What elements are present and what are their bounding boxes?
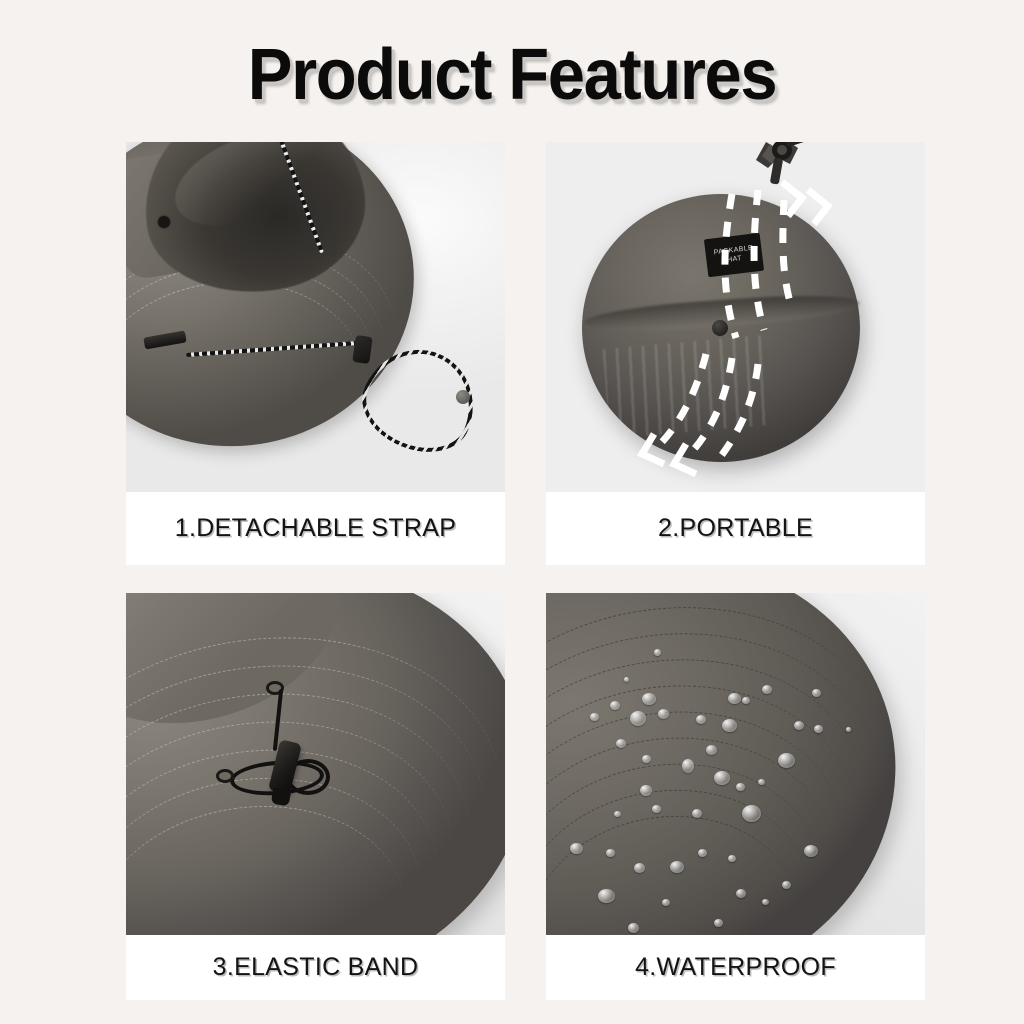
water-droplet [624,677,629,682]
water-droplet [682,759,694,773]
feature-caption-1: 1.DETACHABLE STRAP [126,492,505,565]
water-droplet [634,863,645,873]
water-droplet [742,805,761,822]
water-droplet [628,923,639,933]
water-droplet [714,919,723,927]
water-droplet [570,843,583,854]
feature-image-elastic-band [126,593,505,935]
water-droplet [722,719,737,732]
water-droplet [728,693,741,704]
water-droplet [654,649,661,656]
water-droplet [614,811,621,817]
water-droplet [782,881,791,889]
feature-card-detachable-strap[interactable]: 1.DETACHABLE STRAP [126,142,505,565]
feature-caption-4: 4.WATERPROOF [546,935,925,1000]
water-droplet [714,771,730,785]
water-droplet [630,711,646,726]
water-droplet [670,861,684,873]
feature-caption-3: 3.ELASTIC BAND [126,935,505,1000]
eyelet-icon [216,769,234,783]
water-droplet [606,849,615,857]
water-droplet [696,715,706,724]
water-droplet [846,727,851,732]
feature-grid: 1.DETACHABLE STRAP PACKABLE HAT [126,142,925,1000]
water-droplet [610,701,620,710]
water-droplet [698,849,707,857]
water-droplet [814,725,823,733]
water-droplet [590,713,599,721]
water-droplet [778,753,795,768]
water-droplet [762,685,772,694]
water-droplet [736,889,746,898]
cord-end-bead [456,390,470,404]
water-droplet [812,689,821,697]
water-droplet [642,693,656,705]
water-droplet [598,889,615,903]
water-droplet [662,899,670,906]
water-droplet [762,899,769,905]
feature-caption-2: 2.PORTABLE [546,492,925,565]
feature-card-portable[interactable]: PACKABLE HAT 2. [546,142,925,565]
water-droplet [742,697,750,704]
feature-image-detachable-strap [126,142,505,492]
water-droplet [692,809,702,818]
feature-card-waterproof[interactable]: 4.WATERPROOF [546,593,925,1000]
water-droplet [794,721,804,730]
water-droplet [758,779,765,785]
fabric-fold [162,142,331,244]
feature-image-portable: PACKABLE HAT [546,142,925,492]
water-droplet [652,805,661,813]
eyelet-icon [158,216,170,228]
folding-arrows-overlay [546,142,925,492]
water-droplet [642,755,651,763]
water-droplet [640,785,652,796]
water-droplet [706,745,717,755]
page-title: Product Features [36,36,988,114]
water-droplet [658,709,669,719]
water-droplet [728,855,736,862]
feature-card-elastic-band[interactable]: 3.ELASTIC BAND [126,593,505,1000]
water-droplet [804,845,818,857]
water-droplet [616,739,626,748]
feature-image-waterproof [546,593,925,935]
water-droplet [736,783,745,791]
